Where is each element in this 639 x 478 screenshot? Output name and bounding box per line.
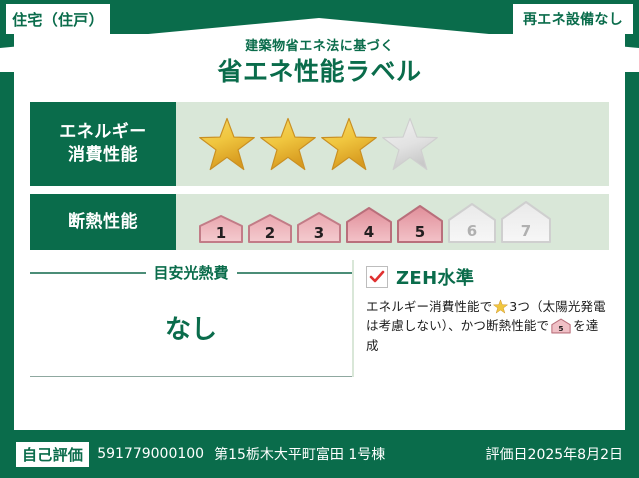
insulation-house-4: 4 bbox=[345, 206, 393, 244]
insulation-house-group: 1 2 3 4 bbox=[198, 200, 552, 244]
insulation-house-5: 5 bbox=[396, 204, 444, 244]
building-type-badge: 住宅（住戸） bbox=[6, 4, 110, 34]
insulation-performance-row: 断熱性能 1 2 bbox=[30, 194, 609, 250]
house-icon-inline-number: 5 bbox=[559, 324, 564, 333]
star-icon-filled-1 bbox=[198, 116, 256, 172]
star-icon-filled-3 bbox=[320, 116, 378, 172]
utility-cost-section: 目安光熱費 なし bbox=[30, 260, 352, 377]
label-footer: 自己評価 591779000100 第15栃木大平町富田 1号棟 評価日2025… bbox=[0, 430, 639, 478]
energy-label-line2: 消費性能 bbox=[68, 144, 138, 167]
utility-cost-heading-text: 目安光熱費 bbox=[154, 262, 229, 283]
zeh-desc-star-count: 3つ（太陽光発電 bbox=[509, 299, 605, 314]
heading-rule-right bbox=[237, 272, 353, 274]
title-subtitle: 建築物省エネ法に基づく bbox=[0, 40, 639, 54]
insulation-house-6: 6 bbox=[447, 202, 497, 244]
insulation-house-2-number: 2 bbox=[265, 224, 275, 242]
zeh-heading: ZEH水準 bbox=[366, 264, 609, 290]
heading-rule-left bbox=[30, 272, 146, 274]
insulation-house-3: 3 bbox=[296, 211, 342, 244]
renewable-energy-badge: 再エネ設備なし bbox=[513, 4, 633, 34]
label-content: エネルギー 消費性能 bbox=[14, 96, 625, 430]
zeh-section: ZEH水準 エネルギー消費性能で 3つ（太陽光発電 は考慮しない）、かつ断熱性能… bbox=[352, 260, 609, 377]
zeh-title: ZEH水準 bbox=[396, 264, 474, 290]
insulation-house-6-number: 6 bbox=[467, 222, 477, 240]
energy-performance-row: エネルギー 消費性能 bbox=[30, 102, 609, 186]
insulation-house-7-number: 7 bbox=[521, 222, 531, 240]
star-icon-inline bbox=[493, 299, 508, 314]
page-title: 省エネ性能ラベル bbox=[0, 58, 639, 86]
insulation-house-1: 1 bbox=[198, 214, 244, 244]
insulation-house-7: 7 bbox=[500, 200, 552, 244]
insulation-house-3-number: 3 bbox=[314, 224, 324, 242]
evaluation-date: 評価日2025年8月2日 bbox=[486, 444, 623, 464]
insulation-house-5-number: 5 bbox=[415, 223, 425, 241]
energy-star-rating bbox=[176, 102, 609, 186]
lower-section: 目安光熱費 なし ZEH水準 エネルギー消費性能で bbox=[30, 260, 609, 377]
insulation-house-4-number: 4 bbox=[364, 223, 374, 241]
check-icon bbox=[369, 270, 385, 284]
zeh-description: エネルギー消費性能で 3つ（太陽光発電 は考慮しない）、かつ断熱性能で 5 を達… bbox=[366, 297, 609, 355]
evaluation-type-badge: 自己評価 bbox=[16, 442, 89, 467]
insulation-label-text: 断熱性能 bbox=[68, 211, 138, 234]
utility-cost-value: なし bbox=[30, 309, 352, 346]
insulation-house-2: 2 bbox=[247, 213, 293, 244]
star-icon-filled-2 bbox=[259, 116, 317, 172]
title-block: 建築物省エネ法に基づく 省エネ性能ラベル bbox=[0, 40, 639, 86]
energy-label-line1: エネルギー bbox=[59, 121, 147, 144]
zeh-checkbox[interactable] bbox=[366, 266, 388, 288]
zeh-desc-part2: は考慮しない）、かつ断熱性能で bbox=[366, 318, 549, 333]
house-icon-inline: 5 bbox=[551, 318, 571, 334]
zeh-desc-part1: エネルギー消費性能で bbox=[366, 299, 492, 314]
insulation-house-1-number: 1 bbox=[216, 224, 226, 242]
utility-cost-heading: 目安光熱費 bbox=[30, 262, 352, 283]
energy-performance-label-cell: エネルギー 消費性能 bbox=[30, 102, 176, 186]
label-id: 591779000100 bbox=[97, 446, 204, 462]
utility-cost-divider bbox=[30, 376, 352, 377]
star-rating-group bbox=[198, 116, 439, 172]
energy-performance-label: 住宅（住戸） 再エネ設備なし 建築物省エネ法に基づく 省エネ性能ラベル エネルギ… bbox=[0, 0, 639, 478]
star-icon-empty-4 bbox=[381, 116, 439, 172]
insulation-performance-label-cell: 断熱性能 bbox=[30, 194, 176, 250]
property-address: 第15栃木大平町富田 1号棟 bbox=[214, 444, 385, 464]
insulation-level-scale: 1 2 3 4 bbox=[176, 194, 609, 250]
